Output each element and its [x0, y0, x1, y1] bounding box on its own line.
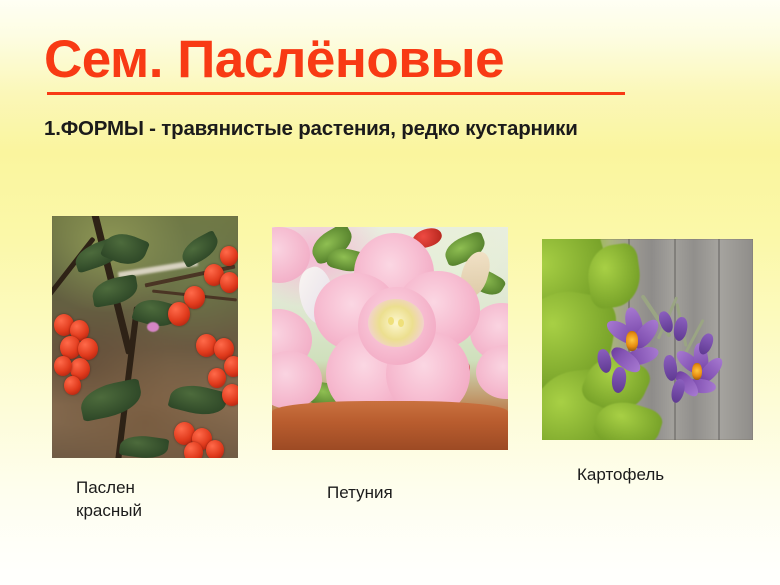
- slide-canvas: Сем. Паслёновые 1.ФОРМЫ - травянистые ра…: [0, 0, 780, 585]
- figure-image-petuniya: [272, 227, 508, 450]
- title-underline: [47, 92, 625, 95]
- flower-center: [626, 331, 638, 351]
- plant-berry: [224, 356, 238, 377]
- flower-stamen: [398, 319, 404, 327]
- small-flower: [147, 322, 159, 332]
- flower-center: [368, 299, 424, 347]
- page-title: Сем. Паслёновые: [44, 32, 504, 88]
- flower-pot: [272, 401, 508, 450]
- fence-seam: [718, 239, 720, 440]
- plant-berry: [206, 440, 224, 458]
- subtitle-text: 1.ФОРМЫ - травянистые растения, редко ку…: [44, 117, 578, 141]
- plant-berry: [222, 384, 238, 406]
- plant-berry: [220, 246, 238, 266]
- plant-berry: [78, 338, 98, 360]
- plant-berry: [168, 302, 190, 326]
- plant-berry: [54, 356, 72, 376]
- plant-berry: [184, 442, 203, 458]
- plant-berry: [208, 368, 226, 388]
- figure-caption-petuniya: Петуния: [327, 482, 393, 505]
- figure-image-kartofel: [542, 239, 753, 440]
- flower-center: [692, 363, 702, 380]
- flower-stamen: [388, 317, 394, 325]
- figure-caption-kartofel: Картофель: [577, 464, 664, 487]
- plant-berry: [64, 376, 81, 395]
- figure-image-paslen-krasnyy: [52, 216, 238, 458]
- figure-caption-paslen-krasnyy: Паслен красный: [76, 477, 142, 522]
- plant-berry: [220, 272, 238, 293]
